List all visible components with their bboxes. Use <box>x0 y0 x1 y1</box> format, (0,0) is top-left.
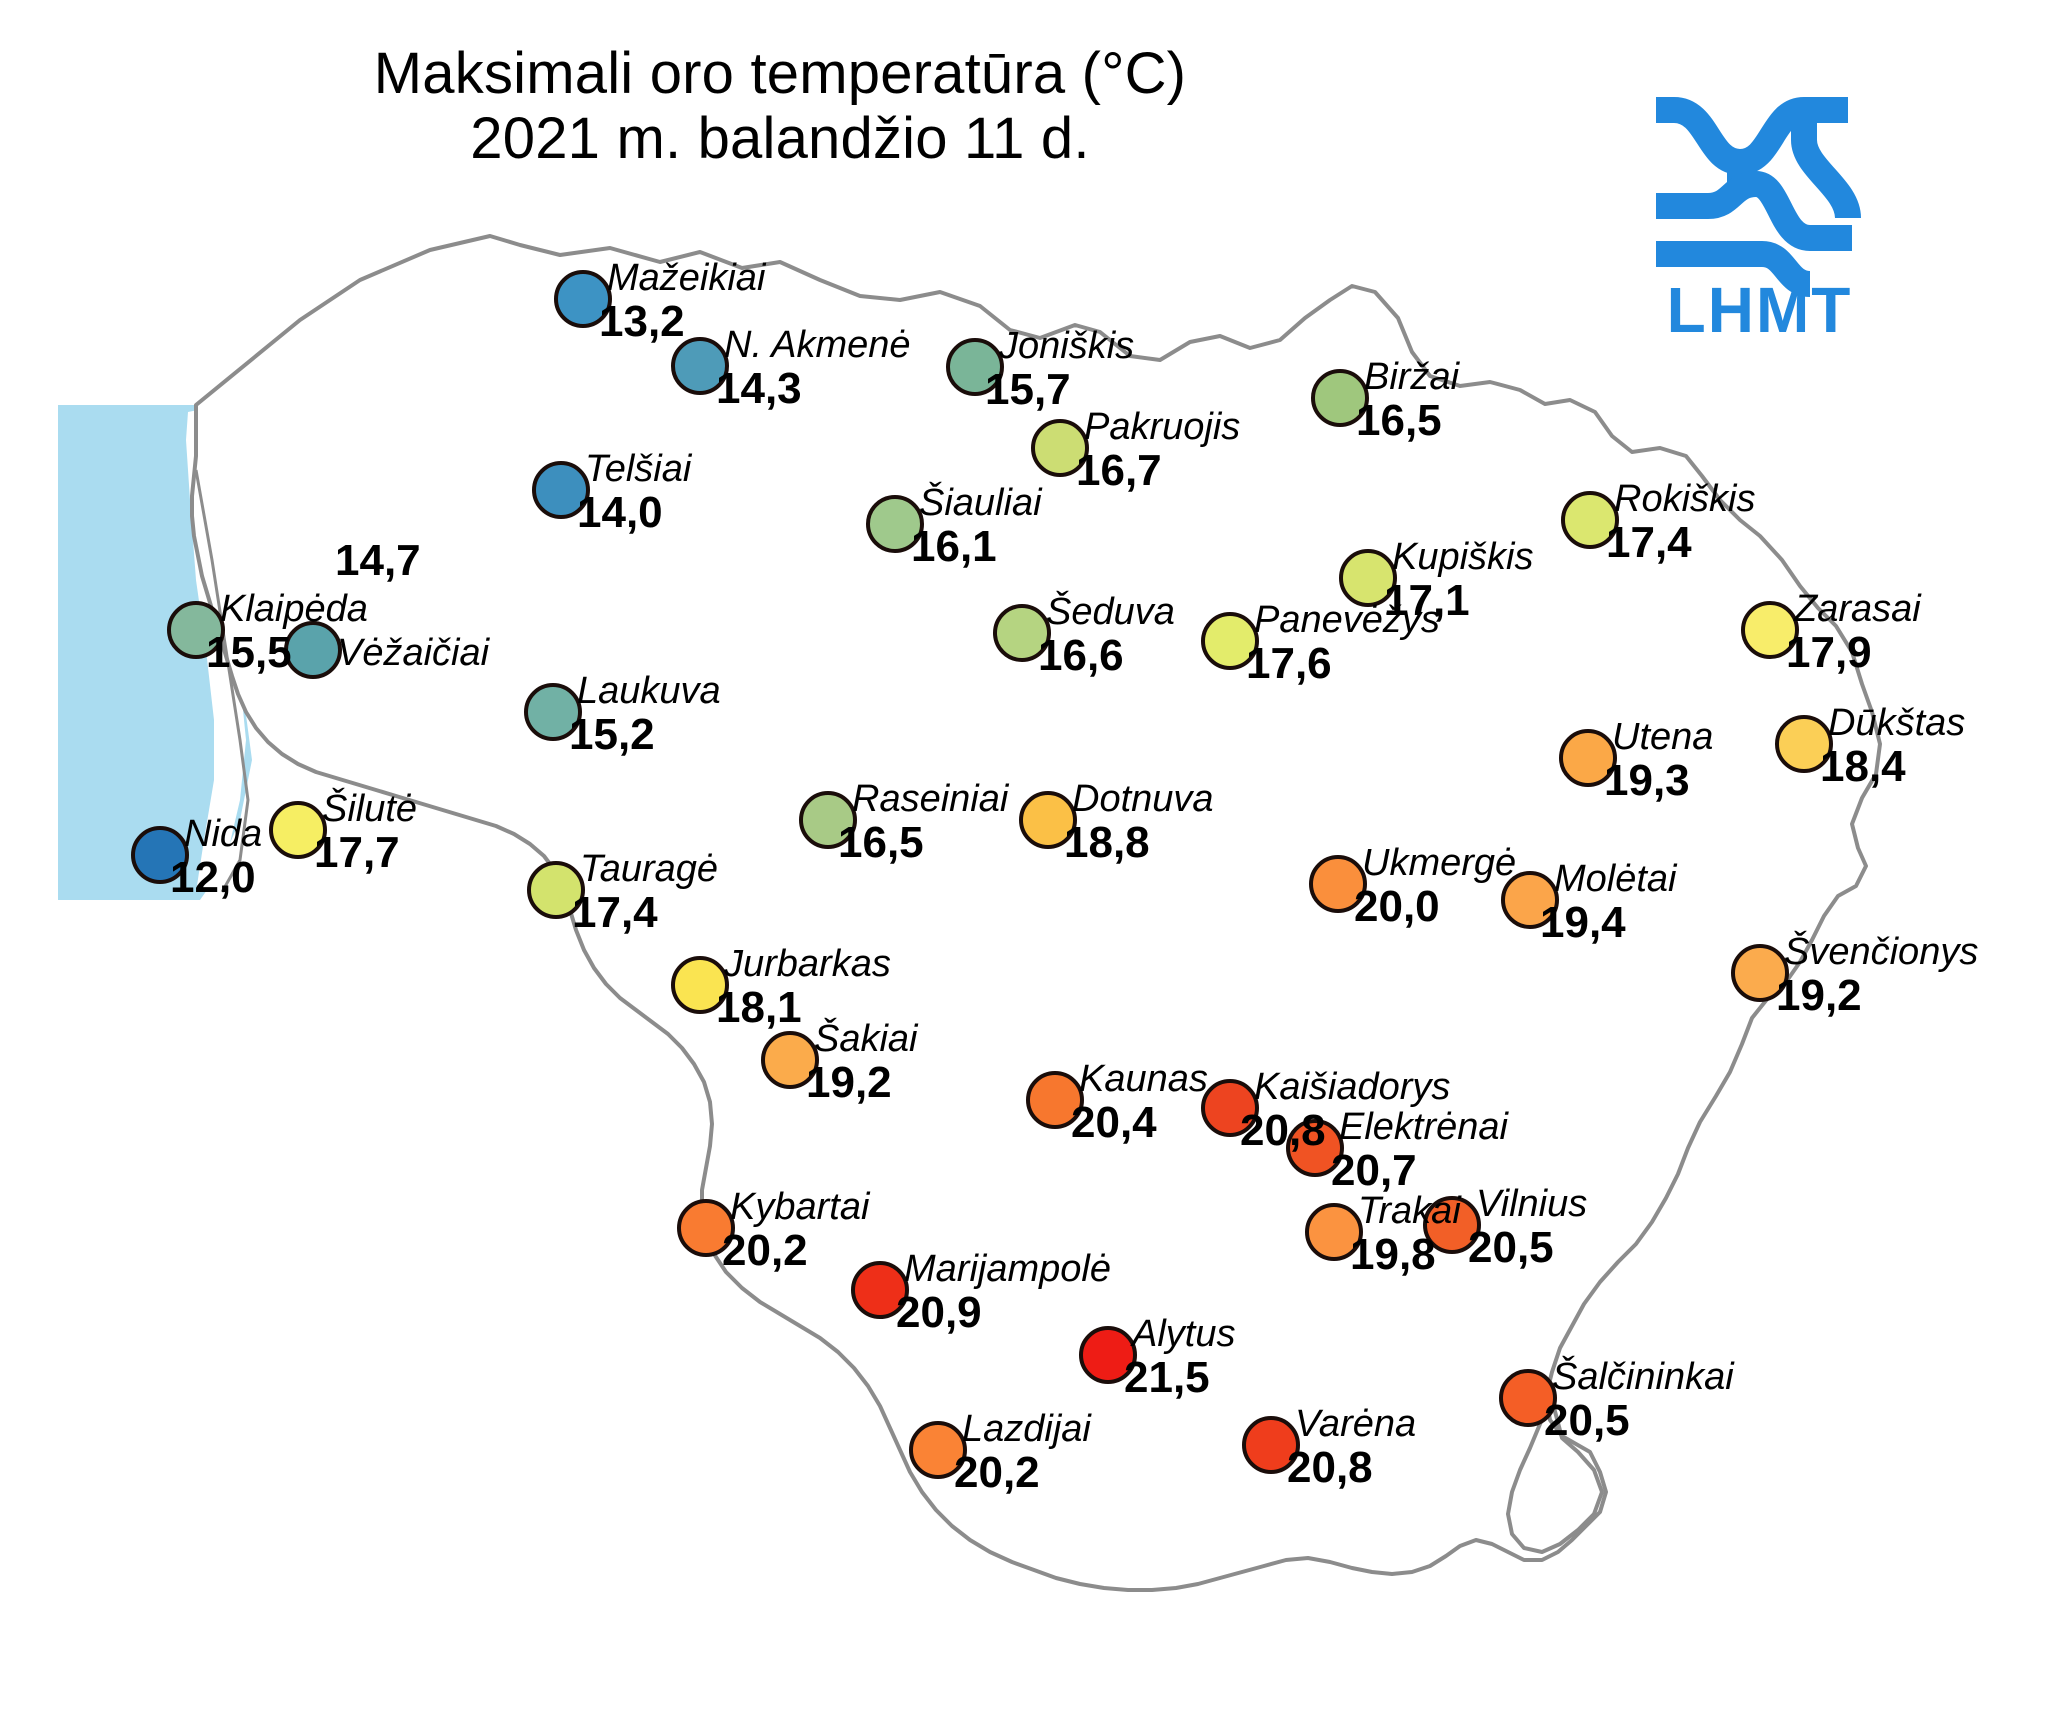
station-label: Varėna <box>1295 1403 1416 1446</box>
station-temperature-value: 17,7 <box>314 828 400 878</box>
station-label: Kupiškis <box>1392 536 1534 579</box>
station-label: Telšiai <box>585 448 691 491</box>
station-temperature-value: 19,2 <box>806 1058 892 1108</box>
station-temperature-value: 15,5 <box>206 628 292 678</box>
station-label: Marijampolė <box>904 1248 1111 1291</box>
station-label: Biržai <box>1364 356 1459 399</box>
station-temperature-value: 13,2 <box>599 297 685 347</box>
station-temperature-value: 16,6 <box>1038 631 1124 681</box>
station-label: Švenčionys <box>1784 931 1978 974</box>
station-label: Ukmergė <box>1362 842 1516 885</box>
station-temperature-value: 20,2 <box>722 1226 808 1276</box>
station-temperature-value: 18,8 <box>1064 818 1150 868</box>
station-temperature-value: 14,7 <box>335 536 421 586</box>
station-temperature-value: 17,6 <box>1246 639 1332 689</box>
station-label: Elektrėnai <box>1339 1106 1508 1149</box>
station-label: Rokiškis <box>1614 478 1755 521</box>
station-temperature-value: 16,5 <box>1356 396 1442 446</box>
station-temperature-value: 20,2 <box>954 1448 1040 1498</box>
station-temperature-value: 17,9 <box>1786 628 1872 678</box>
station-temperature-value: 14,3 <box>716 364 802 414</box>
station-label: Tauragė <box>580 848 718 891</box>
station-temperature-value: 21,5 <box>1124 1353 1210 1403</box>
station-label: Zarasai <box>1794 588 1921 631</box>
station-temperature-value: 19,3 <box>1604 756 1690 806</box>
station-temperature-value: 16,5 <box>838 818 924 868</box>
station-label: Kaunas <box>1079 1058 1208 1101</box>
station-temperature-value: 15,2 <box>569 710 655 760</box>
station-temperature-value: 20,7 <box>1331 1146 1417 1196</box>
station-temperature-value: 12,0 <box>170 853 256 903</box>
station-temperature-value: 14,0 <box>577 488 663 538</box>
station-label: Utena <box>1612 716 1713 759</box>
station-temperature-value: 19,2 <box>1776 971 1862 1021</box>
station-temperature-value: 18,1 <box>716 983 802 1033</box>
station-temperature-value: 17,1 <box>1384 576 1470 626</box>
station-temperature-value: 19,4 <box>1540 898 1626 948</box>
station-label: Mažeikiai <box>607 257 765 300</box>
station-temperature-value: 15,7 <box>985 365 1071 415</box>
station-label: Laukuva <box>577 670 721 713</box>
station-temperature-value: 18,4 <box>1820 742 1906 792</box>
weather-map-page: Maksimali oro temperatūra (°C) 2021 m. b… <box>0 0 2048 1731</box>
station-label: Molėtai <box>1554 858 1677 901</box>
station-label: Kybartai <box>730 1186 869 1229</box>
station-label: Lazdijai <box>962 1408 1091 1451</box>
station-temperature-value: 20,8 <box>1287 1443 1373 1493</box>
station-label: N. Akmenė <box>724 324 911 367</box>
station-label: Dotnuva <box>1072 778 1214 821</box>
station-label: Šalčininkai <box>1552 1356 1734 1399</box>
station-label: Trakai <box>1358 1190 1461 1233</box>
station-label: Dūkštas <box>1828 702 1965 745</box>
station-temperature-value: 20,0 <box>1354 882 1440 932</box>
station-temperature-value: 19,8 <box>1350 1230 1436 1280</box>
station-label: Pakruojis <box>1084 406 1240 449</box>
station-temperature-value: 20,5 <box>1468 1223 1554 1273</box>
station-label: Vilnius <box>1476 1183 1587 1226</box>
station-temperature-value: 17,4 <box>1606 518 1692 568</box>
station-label: Šakiai <box>814 1018 918 1061</box>
station-label: Vėžaičiai <box>337 632 489 675</box>
station-temperature-value: 20,5 <box>1544 1396 1630 1446</box>
station-temperature-value: 20,9 <box>896 1288 982 1338</box>
station-label: Kaišiadorys <box>1254 1066 1450 1109</box>
station-label: Alytus <box>1132 1313 1235 1356</box>
station-temperature-value: 16,1 <box>911 522 997 572</box>
station-label: Šilutė <box>322 788 417 831</box>
station-temperature-value: 17,4 <box>572 888 658 938</box>
station-label: Joniškis <box>999 325 1134 368</box>
station-temperature-value: 16,7 <box>1076 446 1162 496</box>
station-label: Nida <box>184 813 262 856</box>
station-temperature-value: 20,4 <box>1071 1098 1157 1148</box>
station-label: Šiauliai <box>919 482 1042 525</box>
station-temperature-value: 20,8 <box>1240 1106 1326 1156</box>
station-label: Raseiniai <box>852 778 1008 821</box>
station-label: Klaipėda <box>220 588 368 631</box>
station-label: Šeduva <box>1046 591 1175 634</box>
station-label: Jurbarkas <box>724 943 891 986</box>
